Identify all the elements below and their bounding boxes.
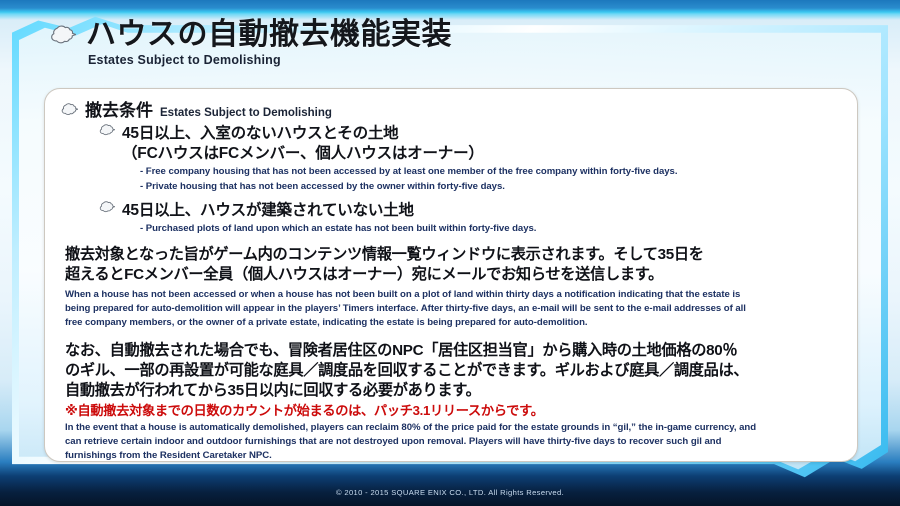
- title-row: ハウスの自動撤去機能実装: [50, 18, 850, 51]
- reclaim-en-line: can retrieve certain indoor and outdoor …: [65, 435, 841, 449]
- reclaim-jp-line: 自動撤去が行われてから35日以内に回収する必要があります。: [65, 381, 841, 401]
- section-heading: 撤去条件 Estates Subject to Demolishing: [61, 96, 845, 121]
- footer-copyright: © 2010 - 2015 SQUARE ENIX CO., LTD. All …: [0, 488, 900, 497]
- reclaim-jp-line: なお、自動撤去された場合でも、冒険者居住区のNPC「居住区担当官」から購入時の土…: [65, 341, 841, 361]
- section-heading-en: Estates Subject to Demolishing: [160, 107, 332, 119]
- notice-en-line: free company members, or the owner of a …: [65, 316, 841, 330]
- section-heading-jp: 撤去条件: [85, 96, 153, 121]
- cloud-pointer-icon: [99, 201, 115, 213]
- condition-bullet: 45日以上、入室のないハウスとその土地 （FCハウスはFCメンバー、個人ハウスは…: [99, 124, 845, 194]
- condition-bullet-en-line: - Private housing that has not been acce…: [140, 180, 845, 194]
- slide-root: ハウスの自動撤去機能実装 Estates Subject to Demolish…: [0, 0, 900, 506]
- page-title: ハウスの自動撤去機能実装: [86, 18, 452, 51]
- cloud-pointer-icon: [50, 25, 76, 45]
- patch-note-jp: ※自動撤去対象までの日数のカウントが始まるのは、パッチ3.1リリースからです。: [65, 402, 841, 419]
- reclaim-jp-line: のギル、一部の再設置が可能な庭具／調度品を回収することができます。ギルおよび庭具…: [65, 361, 841, 381]
- reclaim-en-line: In the event that a house is automatical…: [65, 421, 841, 435]
- notice-jp-line: 撤去対象となった旨がゲーム内のコンテンツ情報一覧ウィンドウに表示されます。そして…: [65, 245, 841, 265]
- notice-en-line: When a house has not been accessed or wh…: [65, 288, 841, 302]
- condition-bullet-jp: 45日以上、入室のないハウスとその土地 （FCハウスはFCメンバー、個人ハウスは…: [122, 124, 845, 164]
- cloud-pointer-icon: [61, 103, 78, 116]
- cloud-pointer-icon: [99, 124, 115, 136]
- notice-paragraph-jp: 撤去対象となった旨がゲーム内のコンテンツ情報一覧ウィンドウに表示されます。そして…: [65, 245, 841, 285]
- slide-header: ハウスの自動撤去機能実装 Estates Subject to Demolish…: [50, 18, 850, 67]
- condition-bullet-jp-line2: （FCハウスはFCメンバー、個人ハウスはオーナー）: [122, 144, 845, 164]
- page-subtitle: Estates Subject to Demolishing: [88, 53, 850, 67]
- condition-bullet-jp-line1: 45日以上、ハウスが建築されていない土地: [122, 202, 414, 219]
- condition-bullet-en-line: - Purchased plots of land upon which an …: [140, 222, 845, 236]
- condition-bullet-jp: 45日以上、ハウスが建築されていない土地: [122, 201, 845, 221]
- reclaim-paragraph: なお、自動撤去された場合でも、冒険者居住区のNPC「居住区担当官」から購入時の土…: [65, 341, 841, 462]
- condition-bullet-jp-line1: 45日以上、入室のないハウスとその土地: [122, 125, 398, 142]
- notice-paragraph: 撤去対象となった旨がゲーム内のコンテンツ情報一覧ウィンドウに表示されます。そして…: [65, 245, 841, 329]
- condition-bullet-en-line: - Free company housing that has not been…: [140, 165, 845, 179]
- condition-bullet-body: 45日以上、入室のないハウスとその土地 （FCハウスはFCメンバー、個人ハウスは…: [122, 124, 845, 194]
- notice-paragraph-en: When a house has not been accessed or wh…: [65, 288, 841, 330]
- notice-jp-line: 超えるとFCメンバー全員（個人ハウスはオーナー）宛にメールでお知らせを送信します…: [65, 265, 841, 285]
- reclaim-paragraph-en: In the event that a house is automatical…: [65, 421, 841, 462]
- reclaim-en-line: furnishings from the Resident Caretaker …: [65, 449, 841, 462]
- content-panel: 撤去条件 Estates Subject to Demolishing 45日以…: [44, 88, 858, 462]
- condition-bullet: 45日以上、ハウスが建築されていない土地 - Purchased plots o…: [99, 201, 845, 236]
- condition-bullet-body: 45日以上、ハウスが建築されていない土地 - Purchased plots o…: [122, 201, 845, 236]
- reclaim-paragraph-jp: なお、自動撤去された場合でも、冒険者居住区のNPC「居住区担当官」から購入時の土…: [65, 341, 841, 402]
- notice-en-line: being prepared for auto-demolition will …: [65, 302, 841, 316]
